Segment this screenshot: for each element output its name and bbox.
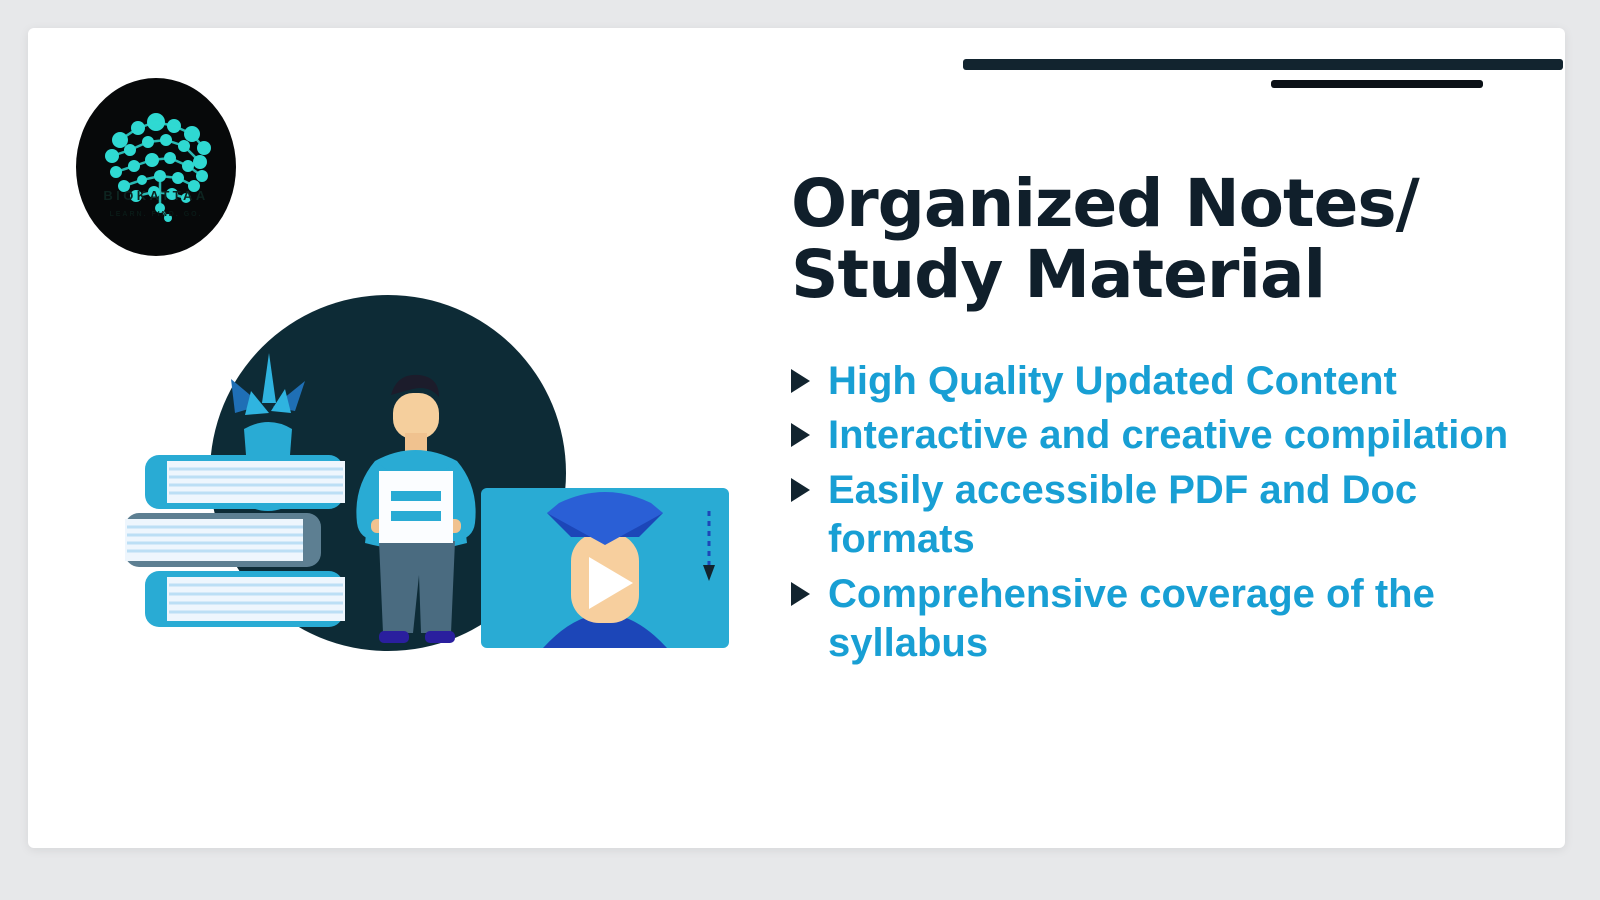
held-document [379,471,453,543]
bullet-text: Comprehensive coverage of the syllabus [828,570,1548,668]
triangle-bullet-icon [791,582,810,606]
logo-wordmark: BIOKATTAA [76,188,236,203]
brand-logo[interactable]: BIOKATTAA LEARN. FIND. GO. [76,78,236,256]
bullet-text: High Quality Updated Content [828,357,1397,406]
feature-bullet-list: High Quality Updated Content Interactive… [763,357,1553,668]
title-line-1: Organized Notes/ [791,168,1553,239]
list-item[interactable]: Easily accessible PDF and Doc formats [763,466,1553,564]
student-study-illustration [123,283,748,658]
slide-content: Organized Notes/ Study Material High Qua… [763,168,1553,673]
page-title: Organized Notes/ Study Material [791,168,1553,311]
slide-stage: BIOKATTAA LEARN. FIND. GO. [0,0,1600,900]
book-stack [125,455,345,627]
list-item[interactable]: Interactive and creative compilation [763,411,1553,460]
slide-card: BIOKATTAA LEARN. FIND. GO. [28,28,1565,848]
list-item[interactable]: Comprehensive coverage of the syllabus [763,570,1553,668]
triangle-bullet-icon [791,369,810,393]
video-thumbnail [481,488,729,648]
logo-tagline: LEARN. FIND. GO. [76,211,236,218]
triangle-bullet-icon [791,423,810,447]
bullet-text: Easily accessible PDF and Doc formats [828,466,1548,564]
title-line-2: Study Material [791,239,1553,310]
triangle-bullet-icon [791,478,810,502]
brain-dots-icon [76,78,236,256]
list-item[interactable]: High Quality Updated Content [763,357,1553,406]
top-long-bar [963,59,1563,70]
bullet-text: Interactive and creative compilation [828,411,1508,460]
top-short-bar [1271,80,1483,88]
